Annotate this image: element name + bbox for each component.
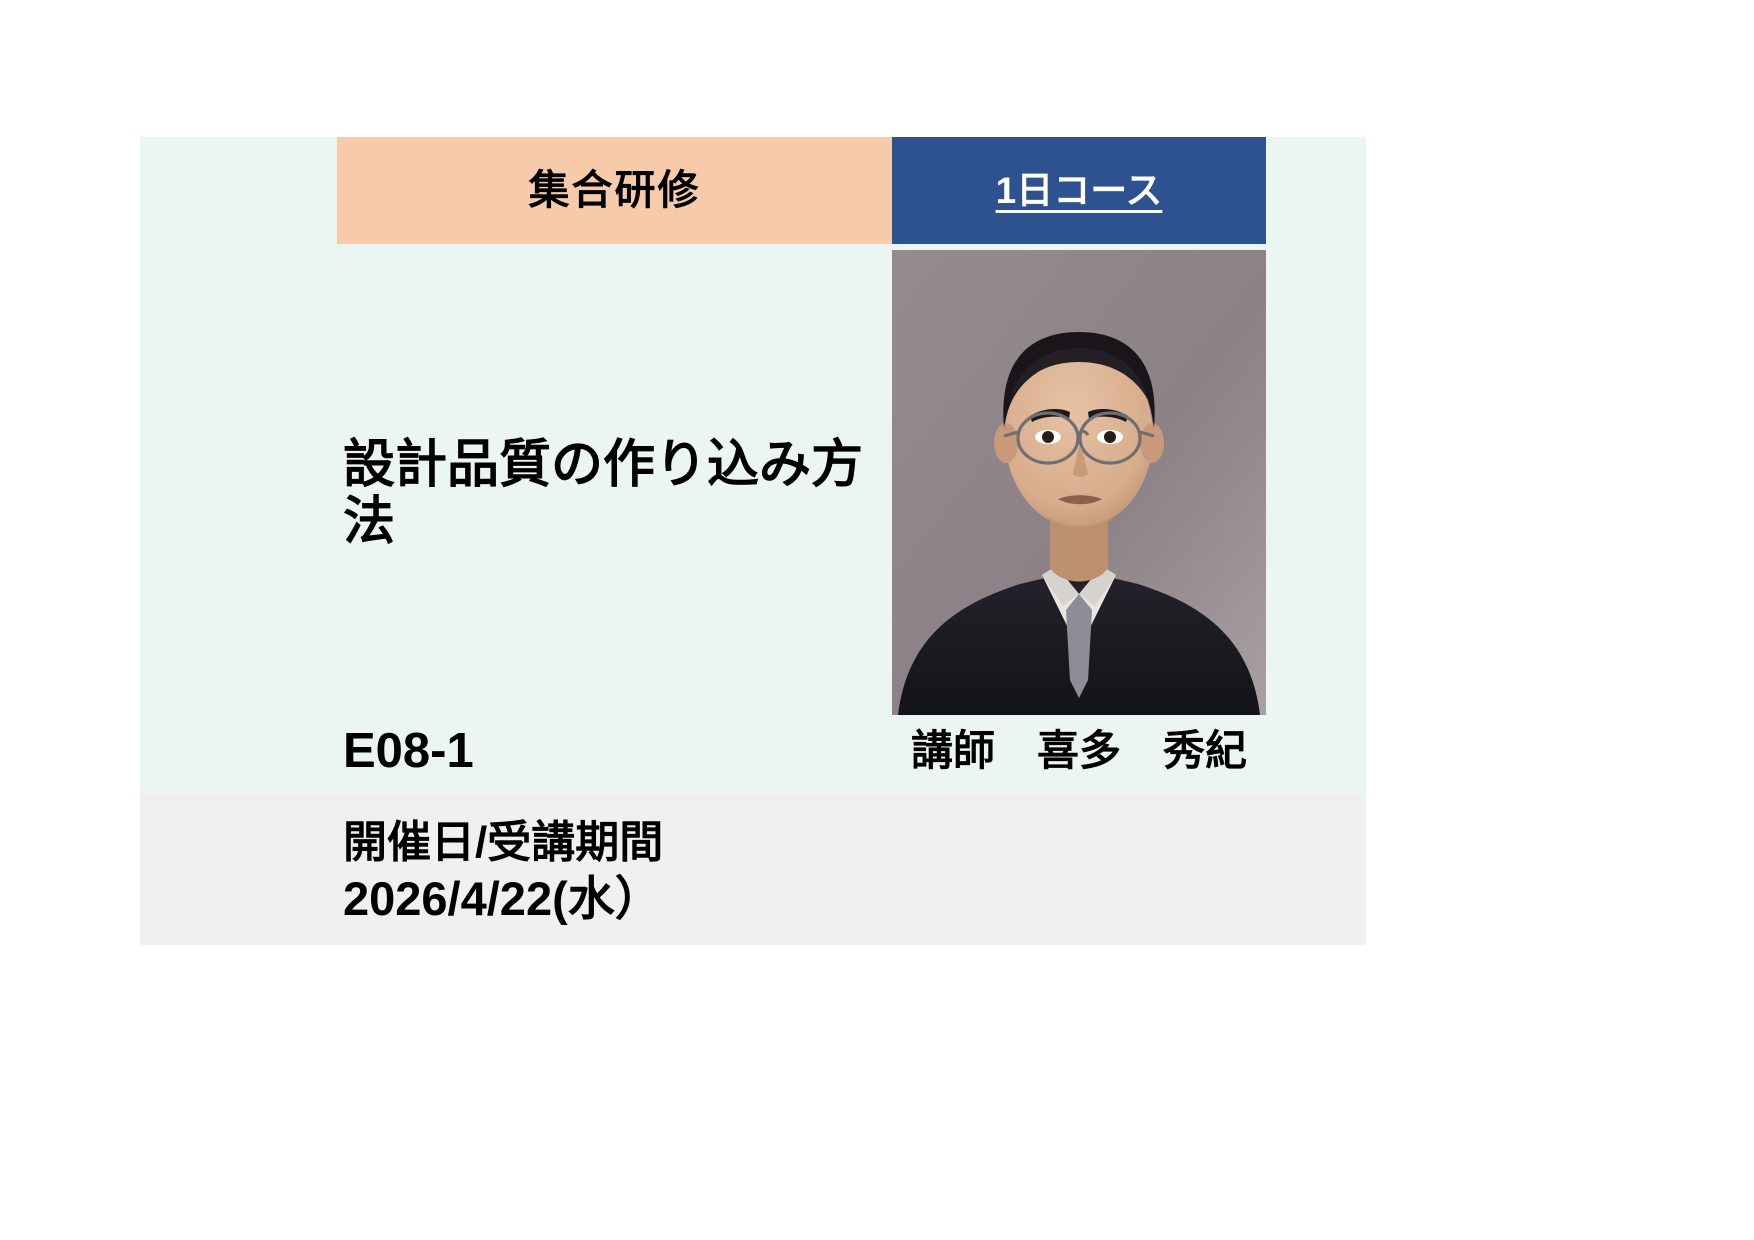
course-code: E08-1 xyxy=(343,727,474,776)
training-format-label: 集合研修 xyxy=(529,170,701,211)
schedule-label: 開催日/受講期間 xyxy=(343,815,1366,870)
course-title: 設計品質の作り込み方法 xyxy=(343,437,883,551)
course-card: 集合研修 1日コース xyxy=(140,137,1366,945)
schedule-section: 開催日/受講期間 2026/4/22(水） xyxy=(140,795,1366,945)
training-format-banner: 集合研修 xyxy=(337,137,892,244)
schedule-value: 2026/4/22(水） xyxy=(343,870,1366,929)
course-duration-banner[interactable]: 1日コース xyxy=(892,137,1266,244)
instructor-photo xyxy=(892,250,1266,715)
instructor-name: 講師 喜多 秀紀 xyxy=(892,730,1266,772)
course-duration-label[interactable]: 1日コース xyxy=(996,172,1163,209)
course-banner-row: 集合研修 1日コース xyxy=(337,137,1266,244)
